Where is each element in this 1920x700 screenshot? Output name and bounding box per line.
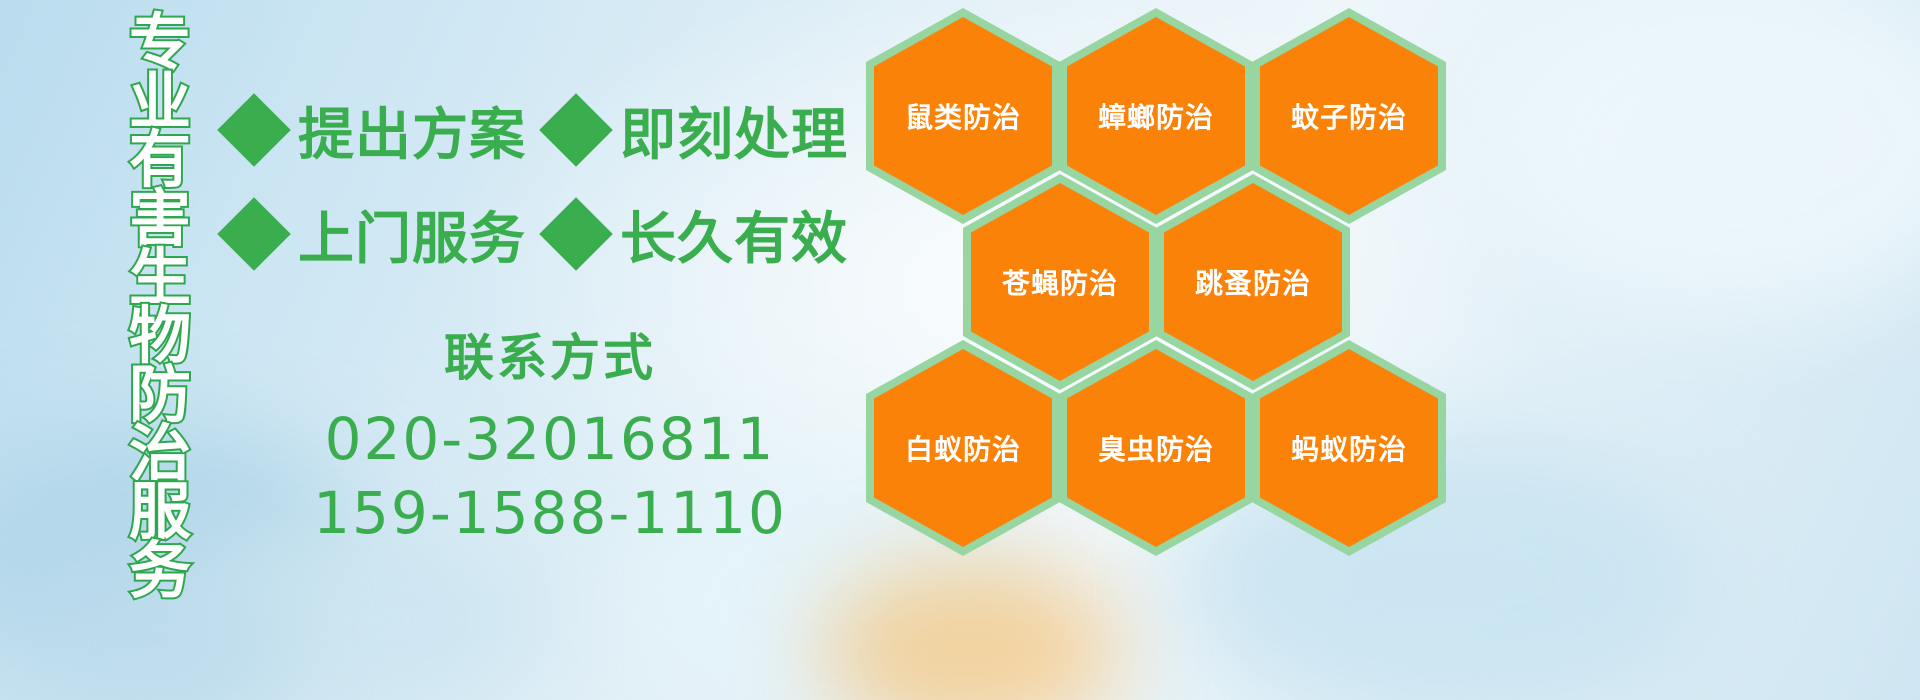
feature-row: 提出方案 即刻处理 <box>228 78 868 182</box>
diamond-bullet-icon <box>217 197 291 271</box>
feature-label: 即刻处理 <box>620 90 848 171</box>
feature-label: 上门服务 <box>298 194 526 275</box>
background-bokeh-blob <box>820 560 1120 700</box>
diamond-bullet-icon <box>217 93 291 167</box>
diamond-bullet-icon <box>539 197 613 271</box>
vertical-headline-char: 服 <box>129 483 191 541</box>
vertical-headline: 专 业 有 害 生 物 防 治 服 务 <box>108 14 212 562</box>
hex-inner: 蚊子防治 <box>1260 17 1438 215</box>
service-label: 鼠类防治 <box>905 96 1021 136</box>
vertical-headline-char: 治 <box>129 425 191 483</box>
service-label: 蚊子防治 <box>1291 96 1407 136</box>
vertical-headline-char: 务 <box>129 542 191 600</box>
service-label: 蚂蚁防治 <box>1291 428 1407 468</box>
feature-item: 长久有效 <box>550 194 848 275</box>
service-label: 臭虫防治 <box>1098 428 1214 468</box>
hex-inner: 跳蚤防治 <box>1164 183 1342 381</box>
feature-item: 上门服务 <box>228 194 526 275</box>
feature-item: 即刻处理 <box>550 90 848 171</box>
vertical-headline-char: 害 <box>129 190 191 248</box>
contact-block: 联系方式 020-32016811 159-1588-1110 <box>300 318 800 550</box>
diamond-bullet-icon <box>539 93 613 167</box>
service-honeycomb: 鼠类防治 蟑螂防治 蚊子防治 苍蝇防治 跳蚤防治 白蚁防治 <box>856 0 1456 560</box>
pest-control-banner: 专 业 有 害 生 物 防 治 服 务 提出方案 即刻处理 上门服务 <box>0 0 1920 700</box>
contact-phone-landline[interactable]: 020-32016811 <box>300 402 800 476</box>
service-label: 蟑螂防治 <box>1098 96 1214 136</box>
contact-heading: 联系方式 <box>300 318 800 390</box>
background-bokeh-blob <box>1480 0 1920 320</box>
hex-inner: 臭虫防治 <box>1067 349 1245 547</box>
hex-inner: 苍蝇防治 <box>971 183 1149 381</box>
hex-inner: 蚂蚁防治 <box>1260 349 1438 547</box>
service-label: 苍蝇防治 <box>1002 262 1118 302</box>
feature-list: 提出方案 即刻处理 上门服务 长久有效 <box>228 78 868 286</box>
vertical-headline-char: 生 <box>129 249 191 307</box>
contact-phone-mobile[interactable]: 159-1588-1110 <box>300 476 800 550</box>
feature-row: 上门服务 长久有效 <box>228 182 868 286</box>
hex-inner: 蟑螂防治 <box>1067 17 1245 215</box>
feature-label: 提出方案 <box>298 90 526 171</box>
vertical-headline-char: 业 <box>129 73 191 131</box>
hex-inner: 鼠类防治 <box>874 17 1052 215</box>
vertical-headline-char: 防 <box>129 366 191 424</box>
feature-label: 长久有效 <box>620 194 848 275</box>
service-label: 白蚁防治 <box>905 428 1021 468</box>
vertical-headline-char: 专 <box>129 14 191 72</box>
feature-item: 提出方案 <box>228 90 526 171</box>
service-label: 跳蚤防治 <box>1195 262 1311 302</box>
hex-inner: 白蚁防治 <box>874 349 1052 547</box>
vertical-headline-char: 物 <box>129 307 191 365</box>
vertical-headline-char: 有 <box>129 131 191 189</box>
